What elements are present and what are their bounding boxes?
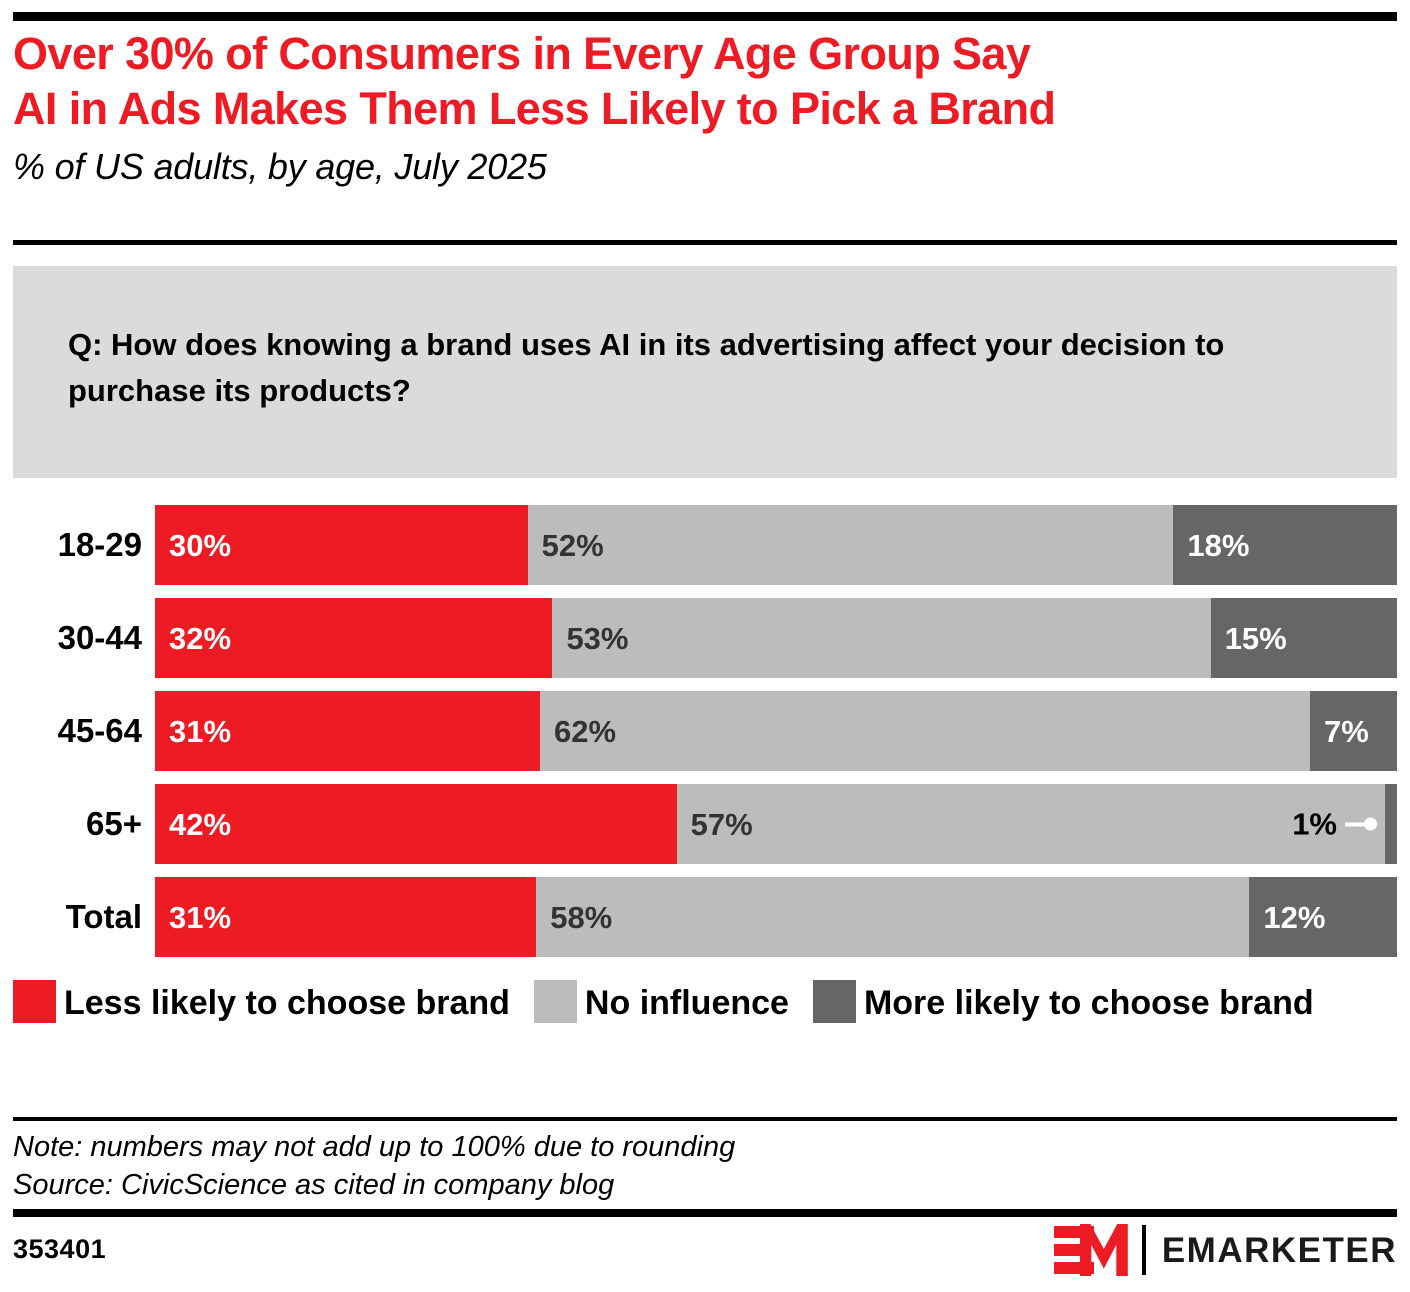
- note-text: Note: numbers may not add up to 100% due…: [13, 1128, 1397, 1166]
- segment-value-label: 52%: [528, 530, 604, 561]
- row-category-label: 18-29: [0, 505, 142, 585]
- stacked-bar: 42%57%1%: [155, 784, 1397, 864]
- logo-divider: [1142, 1225, 1146, 1275]
- segment-value-label: 12%: [1249, 902, 1325, 933]
- bar-segment-none: 57%: [677, 784, 1385, 864]
- bar-segment-more: [1385, 784, 1397, 864]
- bar-segment-none: 62%: [540, 691, 1310, 771]
- bar-segment-less: 31%: [155, 877, 536, 957]
- segment-value-label: 32%: [155, 623, 231, 654]
- segment-value-label: 31%: [155, 716, 231, 747]
- stacked-bar: 30%52%18%: [155, 505, 1397, 585]
- chart-row: 45-6431%62%7%: [0, 691, 1410, 771]
- subtitle-rule: [13, 240, 1397, 245]
- bar-segment-less: 31%: [155, 691, 540, 771]
- infographic-page: Over 30% of Consumers in Every Age Group…: [0, 0, 1410, 1292]
- stacked-bar: 32%53%15%: [155, 598, 1397, 678]
- chart-id: 353401: [13, 1234, 106, 1265]
- legend-label: No influence: [585, 984, 789, 1022]
- row-category-label: Total: [0, 877, 142, 957]
- segment-value-label: 31%: [155, 902, 231, 933]
- stacked-bar: 31%62%7%: [155, 691, 1397, 771]
- stacked-bar: 31%58%12%: [155, 877, 1397, 957]
- row-category-label: 30-44: [0, 598, 142, 678]
- chart-row: 30-4432%53%15%: [0, 598, 1410, 678]
- bar-segment-less: 30%: [155, 505, 528, 585]
- segment-value-label: 53%: [552, 623, 628, 654]
- chart-row: 18-2930%52%18%: [0, 505, 1410, 585]
- bar-segment-less: 42%: [155, 784, 677, 864]
- chart-row: Total31%58%12%: [0, 877, 1410, 957]
- legend-label: More likely to choose brand: [864, 984, 1314, 1022]
- chart-row: 65+42%57%1%: [0, 784, 1410, 864]
- segment-value-label: 30%: [155, 530, 231, 561]
- em-logo-icon: [1054, 1224, 1128, 1276]
- segment-value-label: 62%: [540, 716, 616, 747]
- legend-swatch-icon: [813, 980, 856, 1023]
- header: Over 30% of Consumers in Every Age Group…: [13, 26, 1403, 190]
- segment-value-label: 42%: [155, 809, 231, 840]
- bar-segment-none: 58%: [536, 877, 1249, 957]
- brand-wordmark: EMARKETER: [1162, 1233, 1397, 1268]
- bar-segment-none: 52%: [528, 505, 1174, 585]
- top-rule: [13, 12, 1397, 21]
- legend-label: Less likely to choose brand: [64, 984, 510, 1022]
- footer-rule: [13, 1209, 1397, 1217]
- source-text: Source: CivicScience as cited in company…: [13, 1166, 1397, 1204]
- segment-value-label: 15%: [1211, 623, 1287, 654]
- page-subtitle: % of US adults, by age, July 2025: [13, 144, 1403, 190]
- notes-block: Note: numbers may not add up to 100% due…: [13, 1128, 1397, 1204]
- question-box: Q: How does knowing a brand uses AI in i…: [13, 266, 1397, 478]
- legend-swatch-icon: [534, 980, 577, 1023]
- row-category-label: 45-64: [0, 691, 142, 771]
- bar-segment-more: 7%: [1310, 691, 1397, 771]
- chart-legend: Less likely to choose brandNo influenceM…: [13, 978, 1397, 1039]
- question-text: Q: How does knowing a brand uses AI in i…: [68, 322, 1338, 414]
- bar-segment-more: 12%: [1249, 877, 1397, 957]
- page-title-line1: Over 30% of Consumers in Every Age Group…: [13, 26, 1403, 81]
- segment-value-label: 7%: [1310, 716, 1369, 747]
- notes-top-rule: [13, 1117, 1397, 1121]
- segment-value-label: 18%: [1173, 530, 1249, 561]
- segment-value-label: 58%: [536, 902, 612, 933]
- segment-value-label: 57%: [677, 809, 753, 840]
- bar-segment-less: 32%: [155, 598, 552, 678]
- stacked-bar-chart: 18-2930%52%18%30-4432%53%15%45-6431%62%7…: [0, 505, 1410, 970]
- emarketer-logo: EMARKETER: [1054, 1222, 1397, 1278]
- bar-segment-more: 15%: [1211, 598, 1397, 678]
- row-category-label: 65+: [0, 784, 142, 864]
- bar-segment-more: 18%: [1173, 505, 1397, 585]
- bar-segment-none: 53%: [552, 598, 1210, 678]
- legend-swatch-icon: [13, 980, 56, 1023]
- page-title-line2: AI in Ads Makes Them Less Likely to Pick…: [13, 81, 1403, 136]
